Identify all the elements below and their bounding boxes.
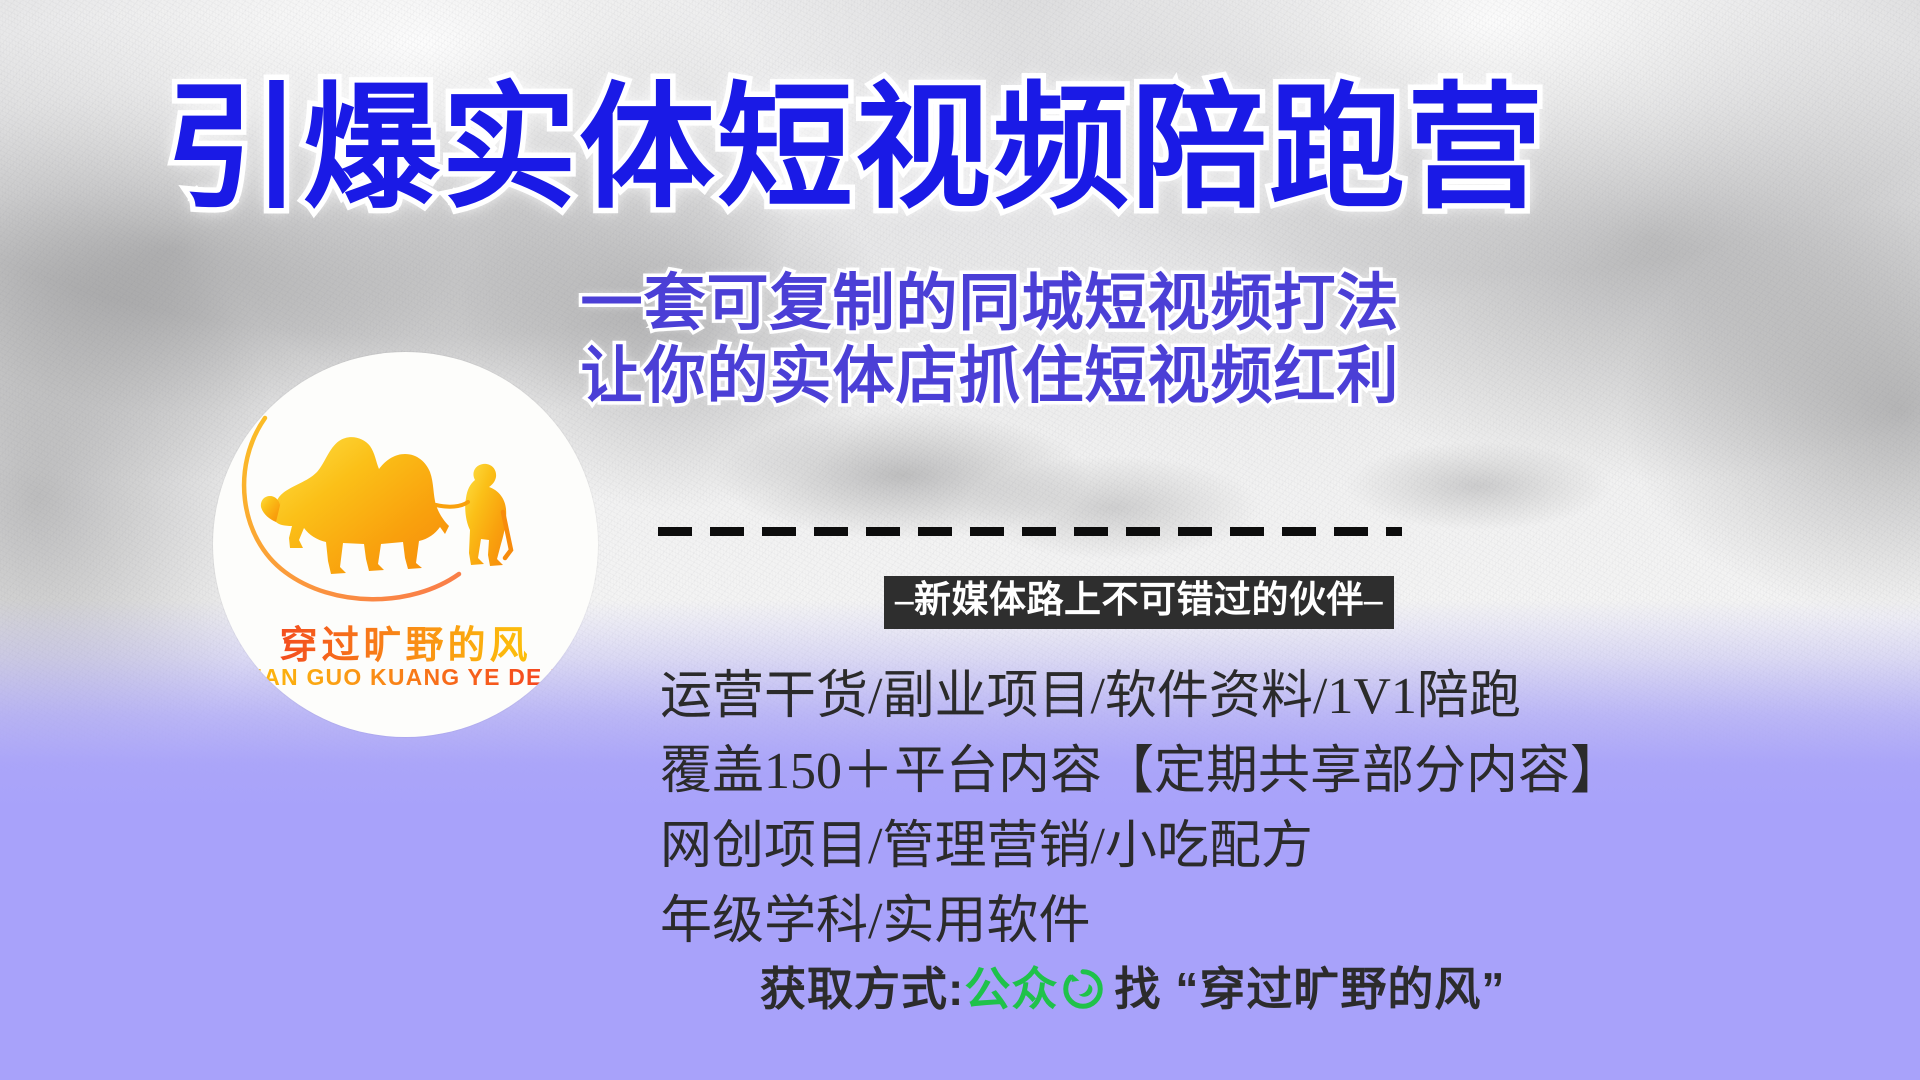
subtitle-block: 一套可复制的同城短视频打法 让你的实体店抓住短视频红利 [560,268,1420,414]
logo-name-en: +CHAN GUO KUANG YE DE FENG+ [213,664,598,691]
offer-line-2: 覆盖150＋平台内容【定期共享部分内容】 [660,735,1622,810]
contact-action: 找 [1114,966,1161,1012]
offer-line-1: 运营干货/副业项目/软件资料/1V1陪跑 [660,660,1622,735]
wechat-official-account-icon [1060,966,1106,1012]
offer-line-3: 网创项目/管理营销/小吃配方 [660,810,1622,885]
contact-line: 获取方式: 公众 找 “穿过旷野的风” [760,966,1505,1012]
page-title: 引爆实体短视频陪跑营 [165,82,1545,218]
offer-line-4: 年级学科/实用软件 [660,885,1622,960]
contact-channel-label: 公众 [964,966,1058,1012]
camel-and-traveler-icon [213,362,598,622]
logo-name-cn: 穿过旷野的风 [213,614,598,669]
tagline-banner: –新媒体路上不可错过的伙伴– [884,576,1394,629]
dashed-divider [658,527,1402,536]
subtitle-line-1: 一套可复制的同城短视频打法 [560,268,1420,341]
promo-poster: 引爆实体短视频陪跑营 一套可复制的同城短视频打法 让你的实体店抓住短视频红利 –… [0,0,1920,1080]
brand-logo-badge: 穿过旷野的风 +CHAN GUO KUANG YE DE FENG+ [213,352,598,737]
subtitle-line-2: 让你的实体店抓住短视频红利 [560,341,1420,414]
contact-account-name: “穿过旷野的风” [1175,966,1505,1012]
contact-label: 获取方式: [760,966,964,1012]
offer-list: 运营干货/副业项目/软件资料/1V1陪跑 覆盖150＋平台内容【定期共享部分内容… [660,660,1622,960]
